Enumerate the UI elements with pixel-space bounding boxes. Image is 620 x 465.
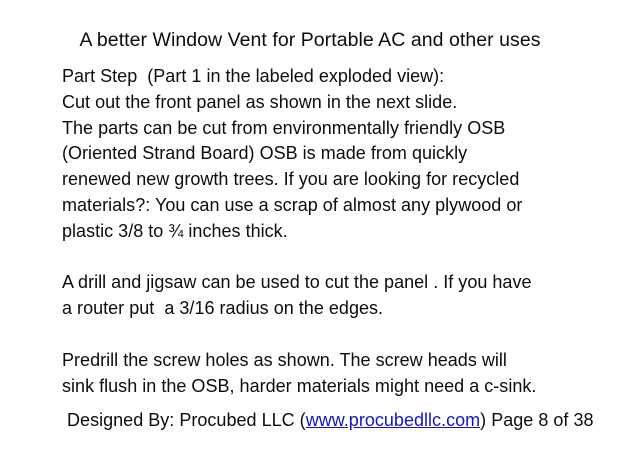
paragraph-tools: A drill and jigsaw can be used to cut th… xyxy=(62,270,592,322)
paragraph-spacer xyxy=(62,245,592,271)
paragraph-spacer xyxy=(62,322,592,348)
website-link[interactable]: www.procubedllc.com xyxy=(306,410,480,430)
slide-canvas: A better Window Vent for Portable AC and… xyxy=(0,0,620,465)
footer: Designed By: Procubed LLC (www.procubedl… xyxy=(62,408,602,434)
paragraph-predrill: Predrill the screw holes as shown. The s… xyxy=(62,348,592,400)
paragraph-part-step: Part Step (Part 1 in the labeled explode… xyxy=(62,64,592,245)
footer-prefix: Designed By: Procubed LLC ( xyxy=(62,410,306,430)
page-title: A better Window Vent for Portable AC and… xyxy=(0,27,620,53)
slide-body: Part Step (Part 1 in the labeled explode… xyxy=(62,64,592,399)
footer-suffix: ) Page 8 of 38 xyxy=(480,410,593,430)
